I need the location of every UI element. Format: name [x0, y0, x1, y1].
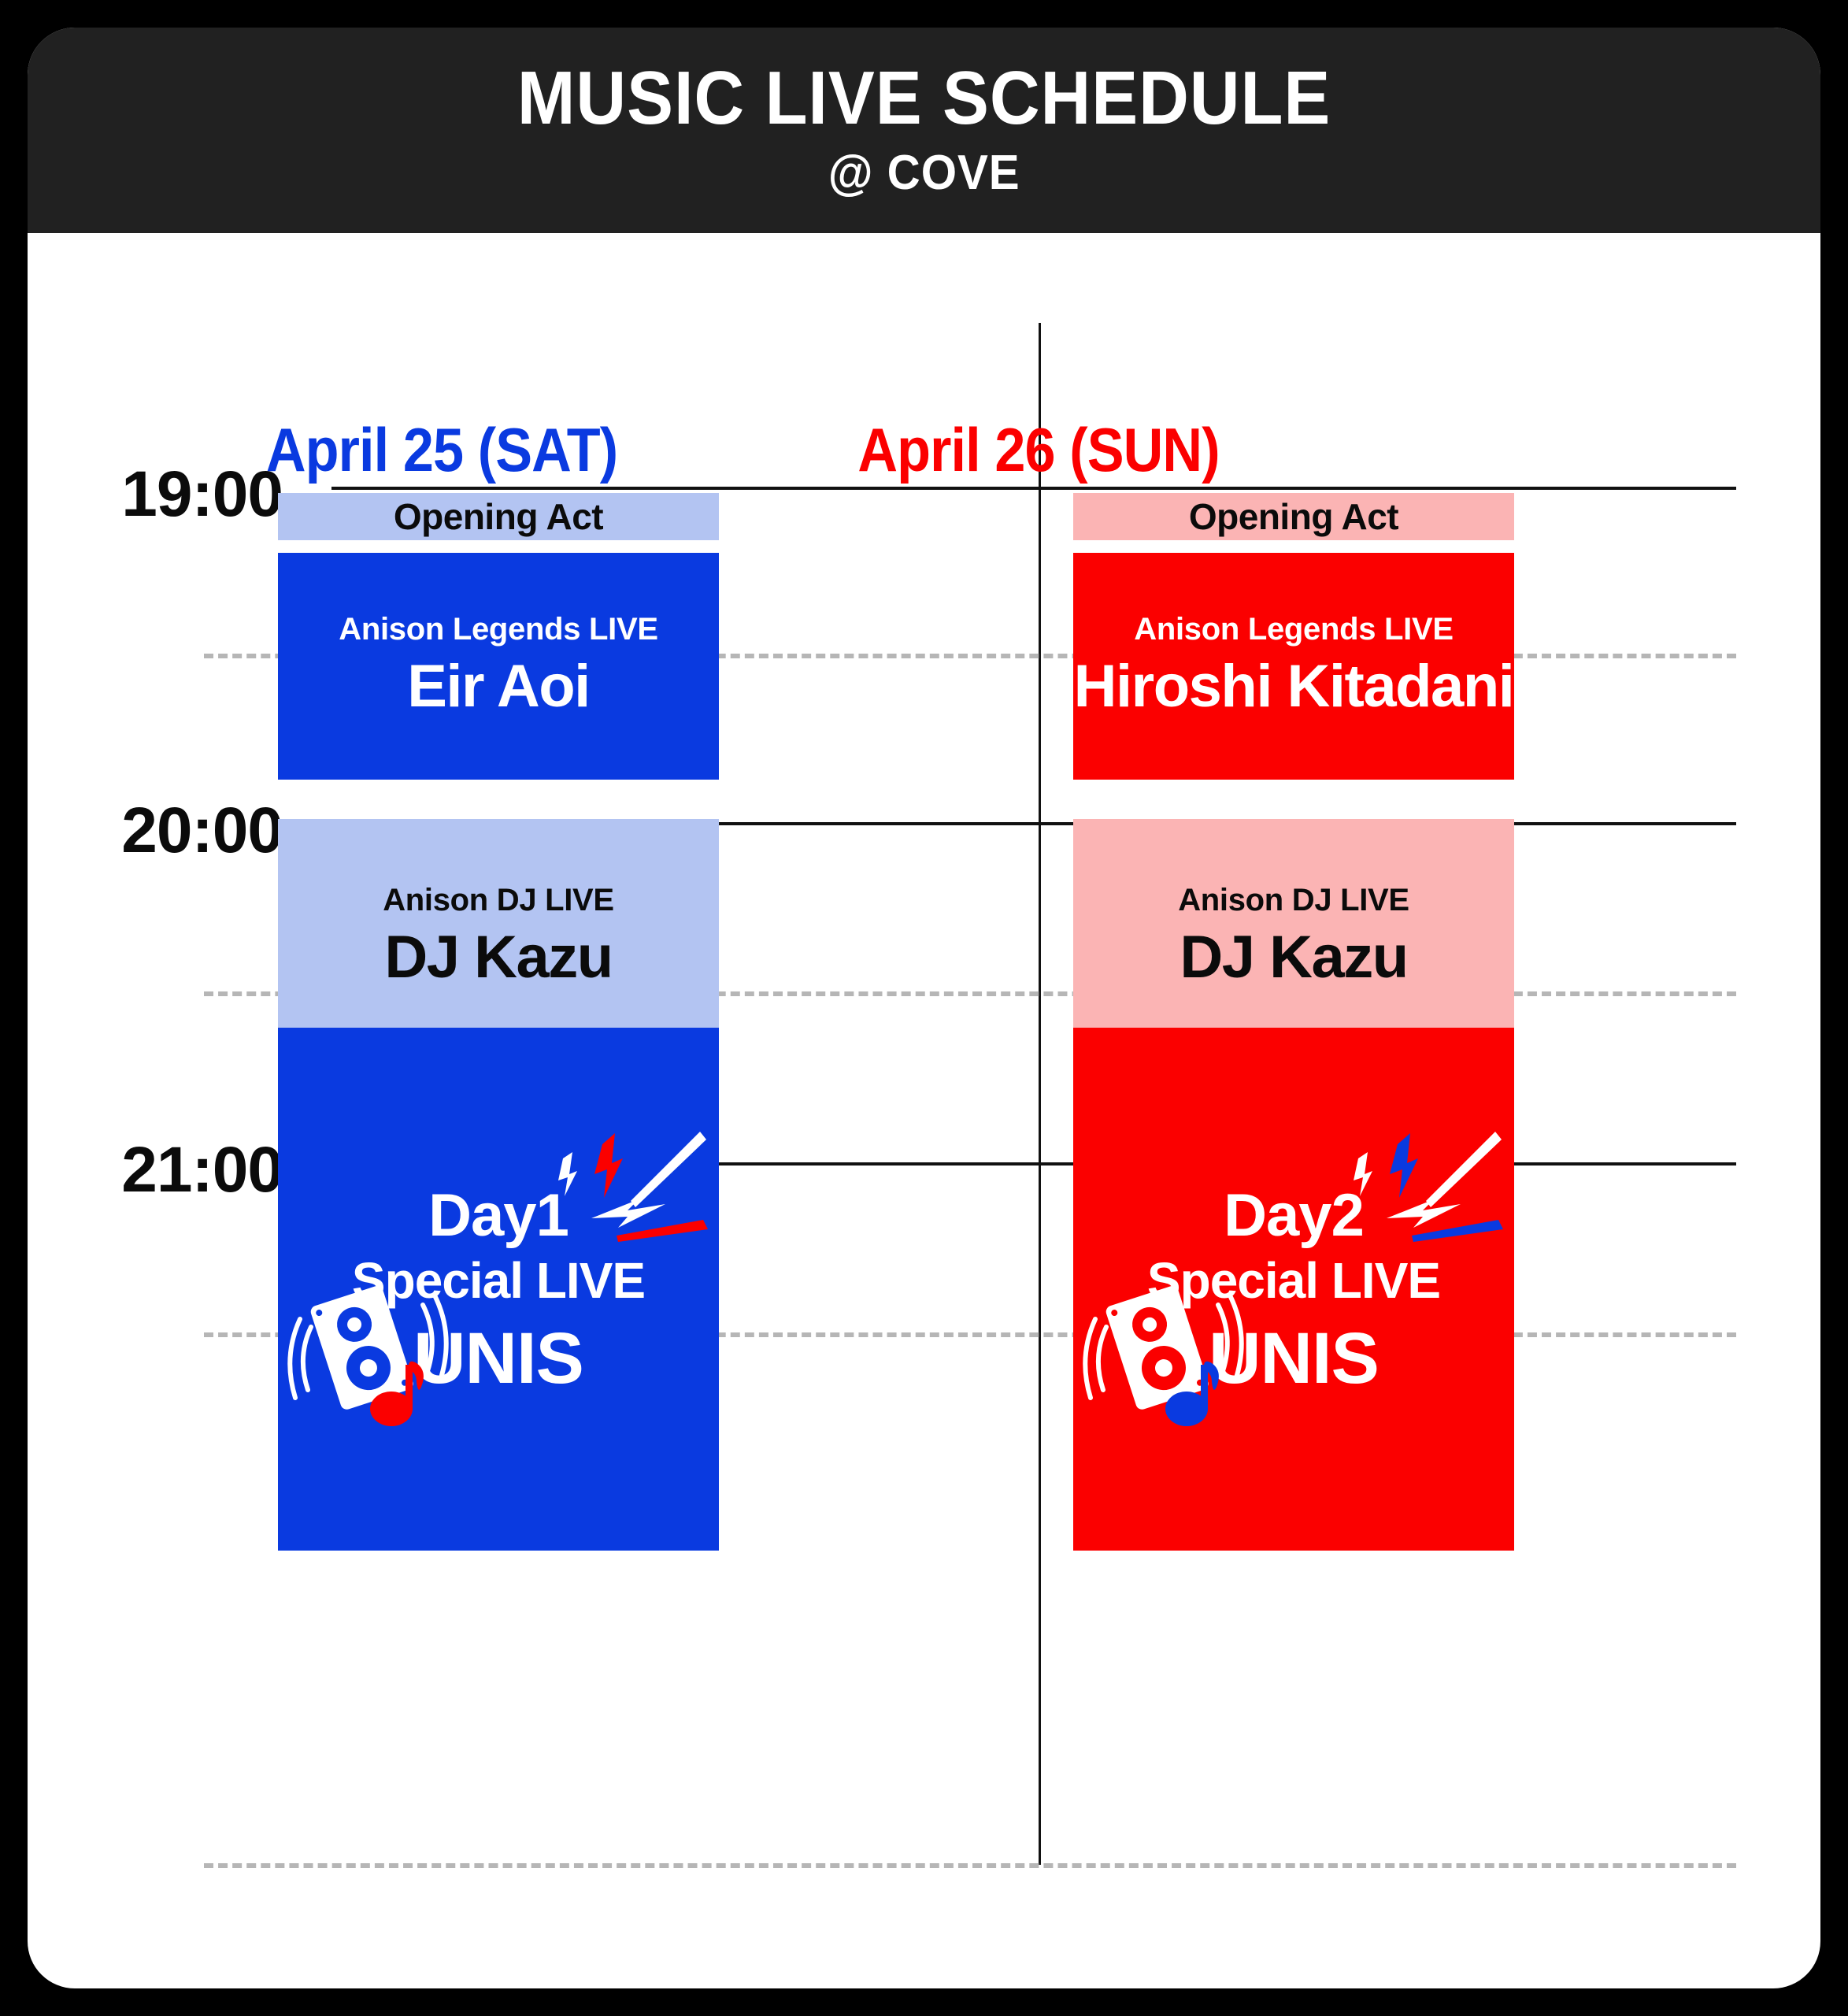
time-label-2000: 20:00	[28, 794, 283, 868]
header-bar: MUSIC LIVE SCHEDULE @ COVE	[28, 28, 1820, 233]
venue-subtitle: @ COVE	[828, 145, 1020, 201]
event-subtitle: Anison Legends LIVE	[339, 612, 657, 647]
event-artist: Hiroshi Kitadani	[1074, 652, 1514, 721]
schedule-card: MUSIC LIVE SCHEDULE @ COVE April 25 (SAT…	[28, 28, 1820, 1988]
event-artist: Eir Aoi	[407, 652, 590, 721]
event-artist: DJ Kazu	[384, 923, 612, 991]
time-label-2100: 21:00	[28, 1133, 283, 1207]
opening-act-block-sun[interactable]: Opening Act	[1073, 493, 1514, 540]
column-divider	[1039, 323, 1041, 1865]
time-label-1900: 19:00	[28, 458, 283, 532]
event-block-dj-kazu-sun[interactable]: Anison DJ LIVE DJ Kazu	[1073, 819, 1514, 1055]
sparkle-burst-icon	[546, 1122, 711, 1248]
special-subtitle: Special LIVE	[1147, 1251, 1440, 1310]
event-block-dj-kazu-sat[interactable]: Anison DJ LIVE DJ Kazu	[278, 819, 719, 1055]
day-header-sat: April 25 (SAT)	[243, 414, 640, 486]
halfhour-rule-2200	[204, 1863, 1736, 1868]
page-title: MUSIC LIVE SCHEDULE	[517, 60, 1331, 137]
special-artist: UNIS	[413, 1317, 583, 1400]
opening-act-block-sat[interactable]: Opening Act	[278, 493, 719, 540]
hour-rule-1900	[331, 487, 1736, 490]
special-subtitle: Special LIVE	[352, 1251, 645, 1310]
opening-act-label: Opening Act	[1189, 495, 1398, 538]
sparkle-burst-icon	[1341, 1122, 1506, 1248]
event-artist: DJ Kazu	[1180, 923, 1407, 991]
event-subtitle: Anison DJ LIVE	[383, 883, 614, 918]
event-subtitle: Anison DJ LIVE	[1178, 883, 1409, 918]
event-subtitle: Anison Legends LIVE	[1134, 612, 1453, 647]
event-block-unis-day1[interactable]: Day1 Special LIVE UNIS	[278, 1028, 719, 1551]
event-block-eir-aoi[interactable]: Anison Legends LIVE Eir Aoi	[278, 553, 719, 780]
special-day-label: Day2	[1224, 1181, 1364, 1250]
special-artist: UNIS	[1209, 1317, 1379, 1400]
event-block-unis-day2[interactable]: Day2 Special LIVE UNIS	[1073, 1028, 1514, 1551]
event-block-hiroshi-kitadani[interactable]: Anison Legends LIVE Hiroshi Kitadani	[1073, 553, 1514, 780]
day-header-sun: April 26 (SUN)	[840, 414, 1237, 486]
opening-act-label: Opening Act	[394, 495, 603, 538]
schedule-board: April 25 (SAT) April 26 (SUN) 19:00 20:0…	[28, 233, 1820, 1988]
special-day-label: Day1	[428, 1181, 568, 1250]
